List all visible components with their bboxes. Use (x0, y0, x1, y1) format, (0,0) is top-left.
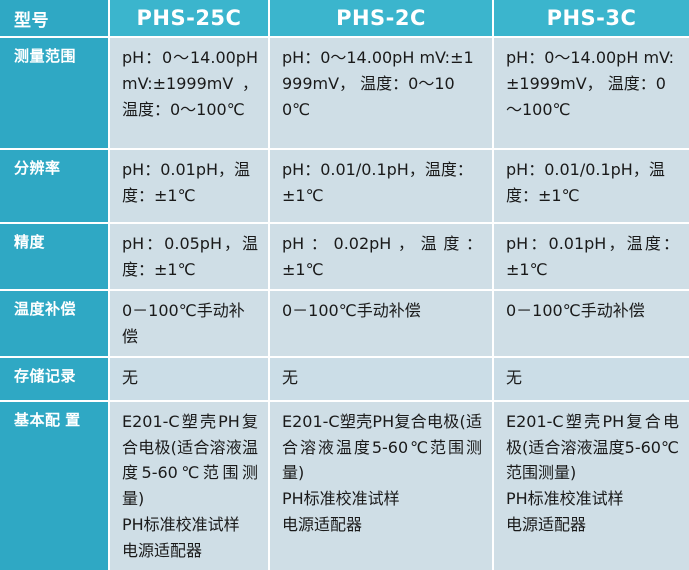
header-column-phs-25c: PHS-25C (110, 0, 270, 38)
text-line: PH标准校准试样 (122, 512, 258, 538)
cell-basic-configuration-phs-3c: E201-C塑壳PH复合电极(适合溶液温度5-60℃范围测量)PH标准校准试样电… (494, 402, 689, 570)
row-label-resolution: 分辨率 (0, 150, 110, 224)
header-column-phs-3c: PHS-3C (494, 0, 689, 38)
cell-basic-configuration-phs-2c: E201-C塑壳PH复合电极(适合溶液温度5-60℃范围测量)PH标准校准试样电… (270, 402, 494, 570)
text-line: E201-C塑壳PH复合电极(适合溶液温度5-60℃范围测量) (506, 409, 679, 487)
text-line: 电源适配器 (122, 538, 258, 564)
cell-storage-records-phs-2c: 无 (270, 358, 494, 402)
cell-resolution-phs-3c: pH：0.01/0.1pH，温度：±1℃ (494, 150, 689, 224)
cell-accuracy-phs-3c: pH：0.01pH，温度：±1℃ (494, 224, 689, 291)
table-header-row: 型号 PHS-25C PHS-2C PHS-3C (0, 0, 689, 38)
cell-storage-records-phs-25c: 无 (110, 358, 270, 402)
text-line: PH标准校准试样 (506, 486, 679, 512)
row-label-storage-records: 存储记录 (0, 358, 110, 402)
cell-resolution-phs-2c: pH：0.01/0.1pH，温度：±1℃ (270, 150, 494, 224)
cell-temperature-compensation-phs-2c: 0－100℃手动补偿 (270, 291, 494, 358)
text-line: 电源适配器 (282, 512, 482, 538)
table-row-accuracy: 精度 pH：0.05pH，温度：±1℃ pH：0.02pH，温度：±1℃ pH：… (0, 224, 689, 291)
cell-resolution-phs-25c: pH：0.01pH，温度：±1℃ (110, 150, 270, 224)
cell-temperature-compensation-phs-3c: 0－100℃手动补偿 (494, 291, 689, 358)
cell-temperature-compensation-phs-25c: 0－100℃手动补偿 (110, 291, 270, 358)
cell-measuring-range-phs-2c: pH：0～14.00pH mV:±1999mV， 温度：0～100℃ (270, 38, 494, 150)
cell-measuring-range-phs-25c: pH：0～14.00pH mV:±1999mV，温度：0～100℃ (110, 38, 270, 150)
table-row-temperature-compensation: 温度补偿 0－100℃手动补偿 0－100℃手动补偿 0－100℃手动补偿 (0, 291, 689, 358)
header-column-phs-2c: PHS-2C (270, 0, 494, 38)
row-label-accuracy: 精度 (0, 224, 110, 291)
row-label-measuring-range: 测量范围 (0, 38, 110, 150)
text-line: E201-C塑壳PH复合电极(适合溶液温度5-60℃范围测量) (282, 409, 482, 487)
row-label-temperature-compensation: 温度补偿 (0, 291, 110, 358)
header-model-label: 型号 (0, 0, 110, 38)
specification-table: 型号 PHS-25C PHS-2C PHS-3C 测量范围 pH：0～14.00… (0, 0, 689, 570)
cell-basic-configuration-phs-25c: E201-C塑壳PH复合电极(适合溶液温度5-60℃范围测量)PH标准校准试样电… (110, 402, 270, 570)
text-line: PH标准校准试样 (282, 486, 482, 512)
cell-storage-records-phs-3c: 无 (494, 358, 689, 402)
text-line: 电源适配器 (506, 512, 679, 538)
table-body: 测量范围 pH：0～14.00pH mV:±1999mV，温度：0～100℃ p… (0, 38, 689, 570)
table-row-measuring-range: 测量范围 pH：0～14.00pH mV:±1999mV，温度：0～100℃ p… (0, 38, 689, 150)
table-row-basic-configuration: 基本配 置 E201-C塑壳PH复合电极(适合溶液温度5-60℃范围测量)PH标… (0, 402, 689, 570)
cell-accuracy-phs-2c: pH：0.02pH，温度：±1℃ (270, 224, 494, 291)
row-label-basic-configuration: 基本配 置 (0, 402, 110, 570)
table-row-resolution: 分辨率 pH：0.01pH，温度：±1℃ pH：0.01/0.1pH，温度：±1… (0, 150, 689, 224)
cell-measuring-range-phs-3c: pH：0～14.00pH mV:±1999mV， 温度：0～100℃ (494, 38, 689, 150)
table-row-storage-records: 存储记录 无 无 无 (0, 358, 689, 402)
cell-accuracy-phs-25c: pH：0.05pH，温度：±1℃ (110, 224, 270, 291)
table-header: 型号 PHS-25C PHS-2C PHS-3C (0, 0, 689, 38)
text-line: E201-C塑壳PH复合电极(适合溶液温度5-60℃范围测量) (122, 409, 258, 513)
